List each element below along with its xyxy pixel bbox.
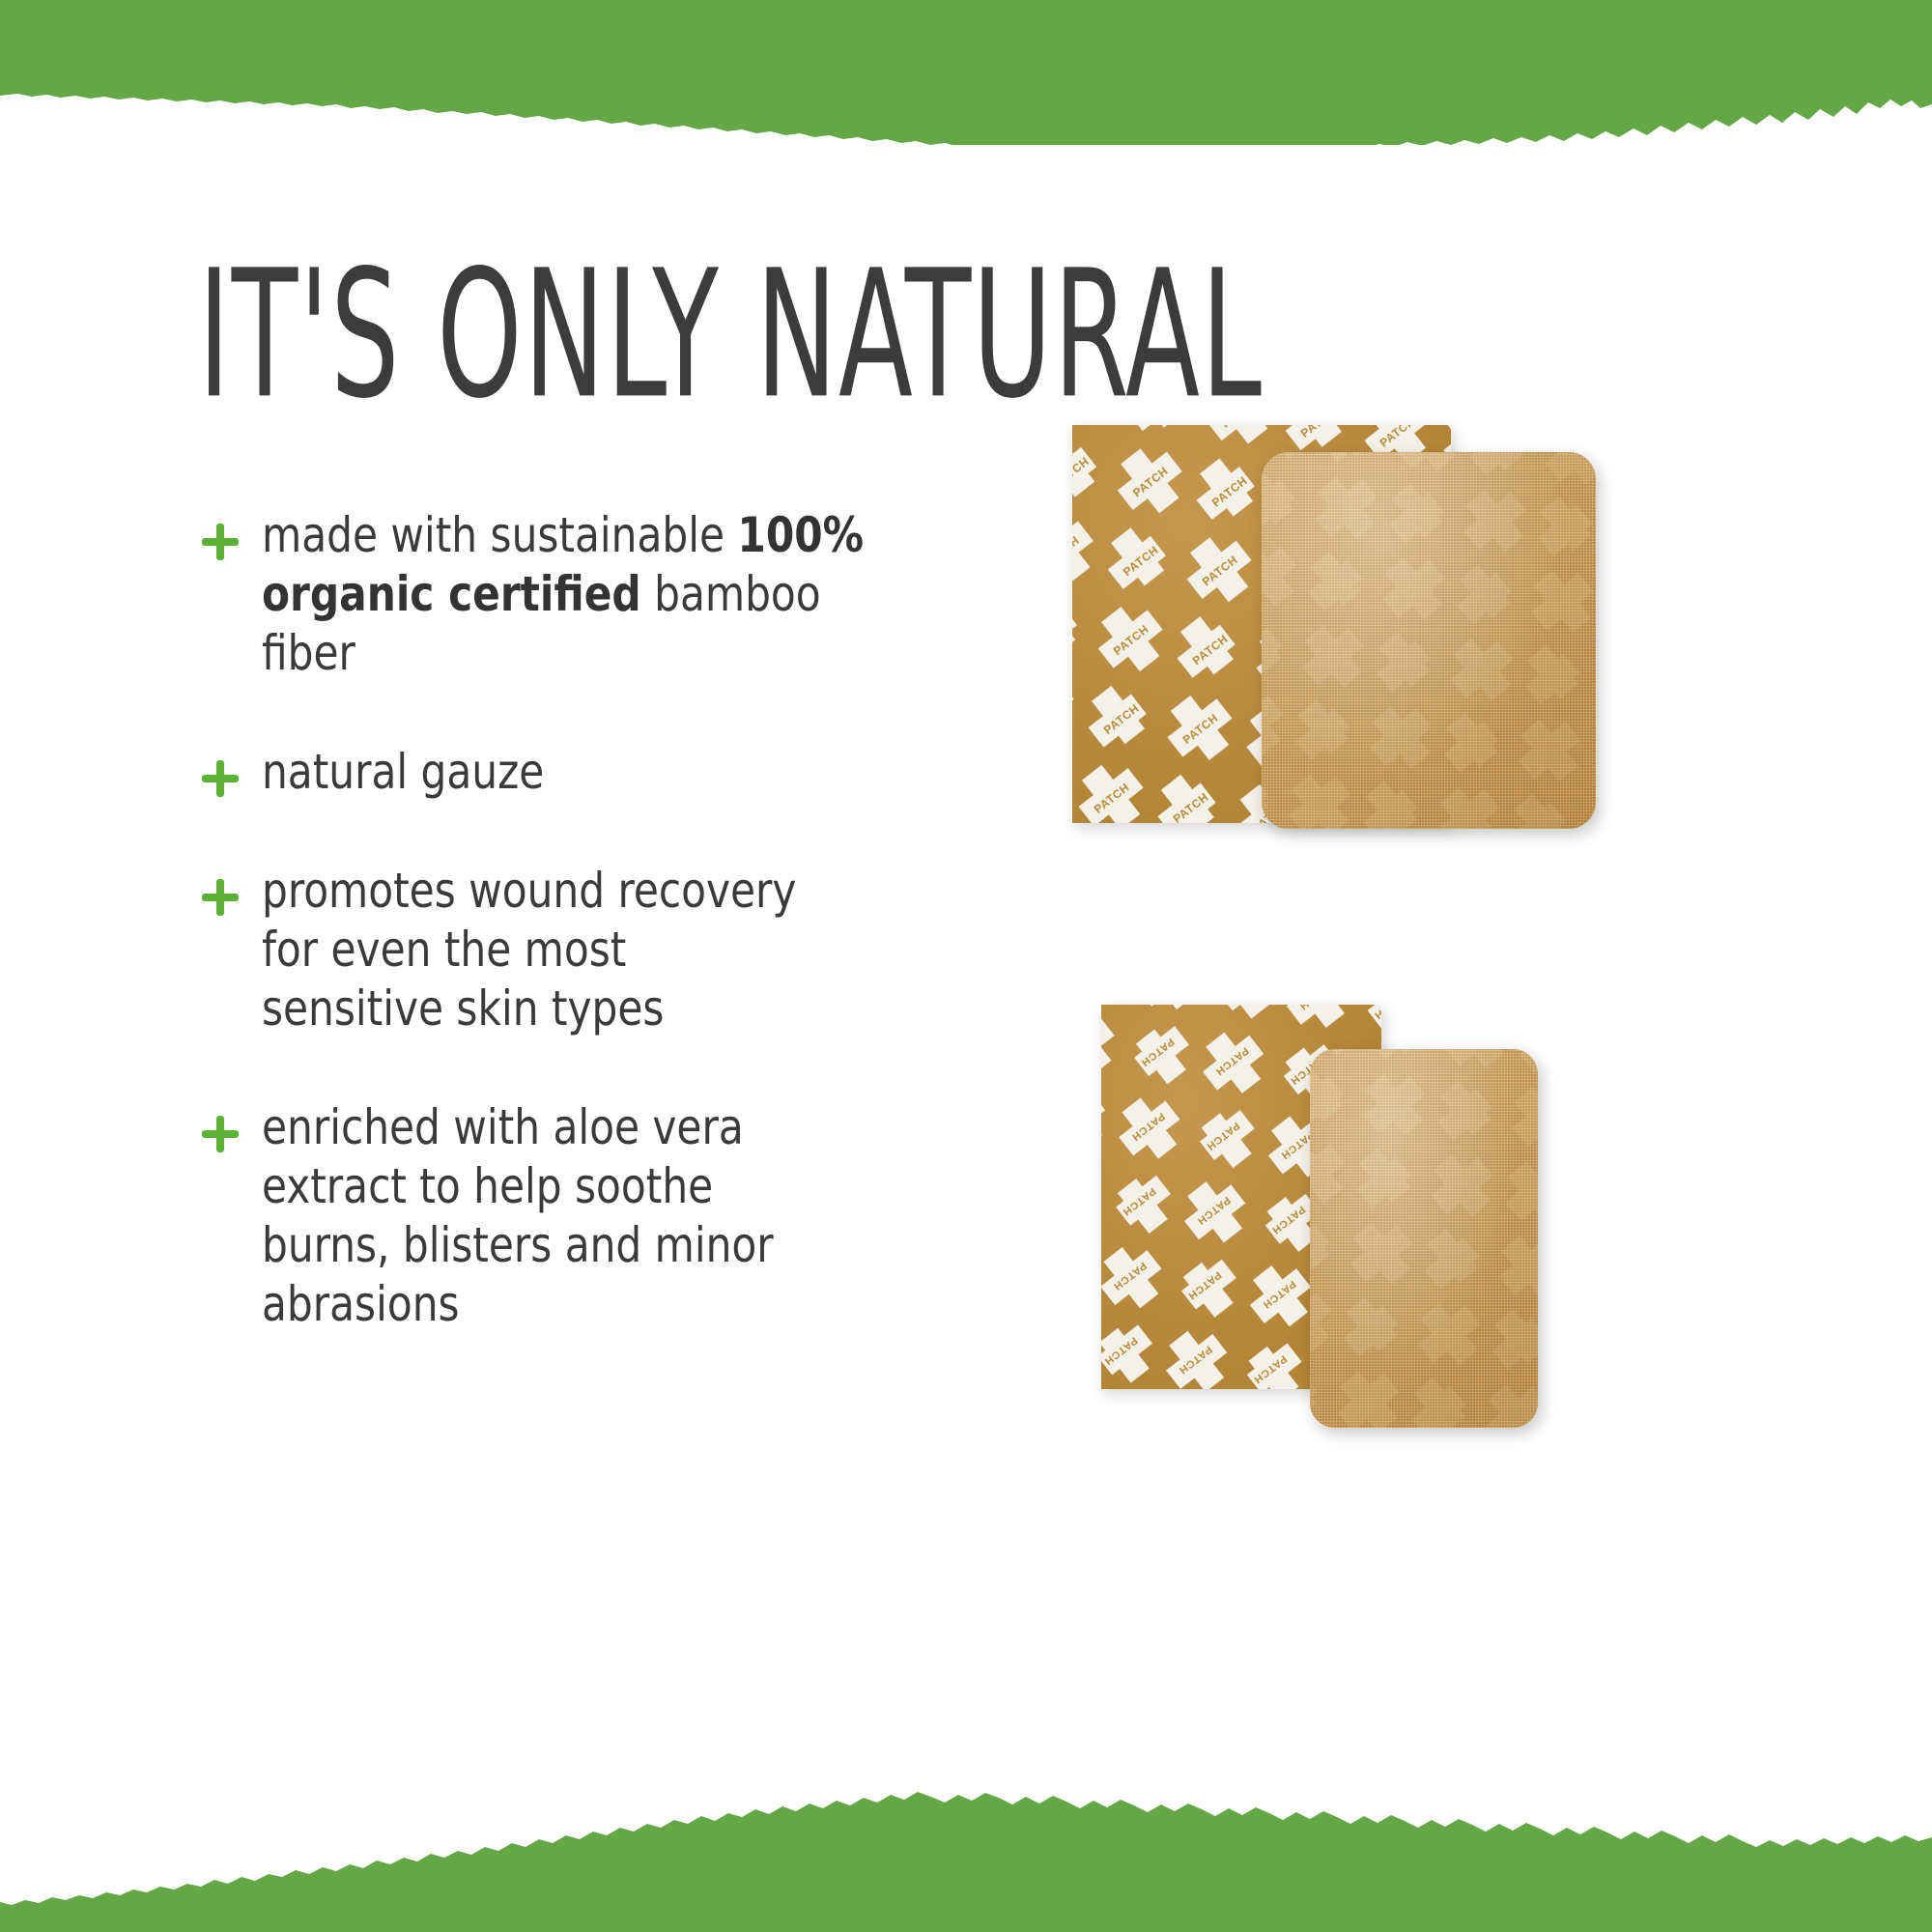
benefit-text-4: enriched with aloe vera extract to help … [262, 1098, 843, 1334]
bandage-sheen [1262, 452, 1596, 829]
main-content-area: IT'S ONLY NATURAL made with sustainable … [0, 145, 1932, 1799]
plus-icon [198, 875, 242, 920]
copy-column: IT'S ONLY NATURAL made with sustainable … [198, 251, 932, 1334]
bandage-sheen [1310, 1049, 1538, 1428]
benefit-1-part-a: made with sustainable [262, 507, 737, 563]
plus-icon [198, 520, 242, 564]
benefit-text-2: natural gauze [262, 743, 544, 802]
top-torn-green-band [0, 0, 1932, 145]
list-item: promotes wound recovery for even the mos… [198, 862, 932, 1038]
list-item: made with sustainable 100% organic certi… [198, 506, 932, 683]
benefit-text-3: promotes wound recovery for even the mos… [262, 862, 807, 1038]
benefits-list: made with sustainable 100% organic certi… [198, 506, 932, 1334]
plus-icon [198, 1112, 242, 1156]
torn-edge-bottom-shape [0, 1787, 1932, 1932]
list-item: natural gauze [198, 743, 932, 802]
product-image-group: PATCH [1043, 415, 1835, 1555]
bottom-torn-green-band [0, 1787, 1932, 1932]
bandage-square [1262, 452, 1596, 829]
torn-edge-top-shape [0, 0, 1932, 145]
benefit-text-1: made with sustainable 100% organic certi… [262, 506, 892, 683]
list-item: enriched with aloe vera extract to help … [198, 1098, 932, 1334]
page-title: IT'S ONLY NATURAL [198, 251, 771, 418]
plus-icon [198, 756, 242, 801]
bandage-rectangle [1310, 1049, 1538, 1428]
